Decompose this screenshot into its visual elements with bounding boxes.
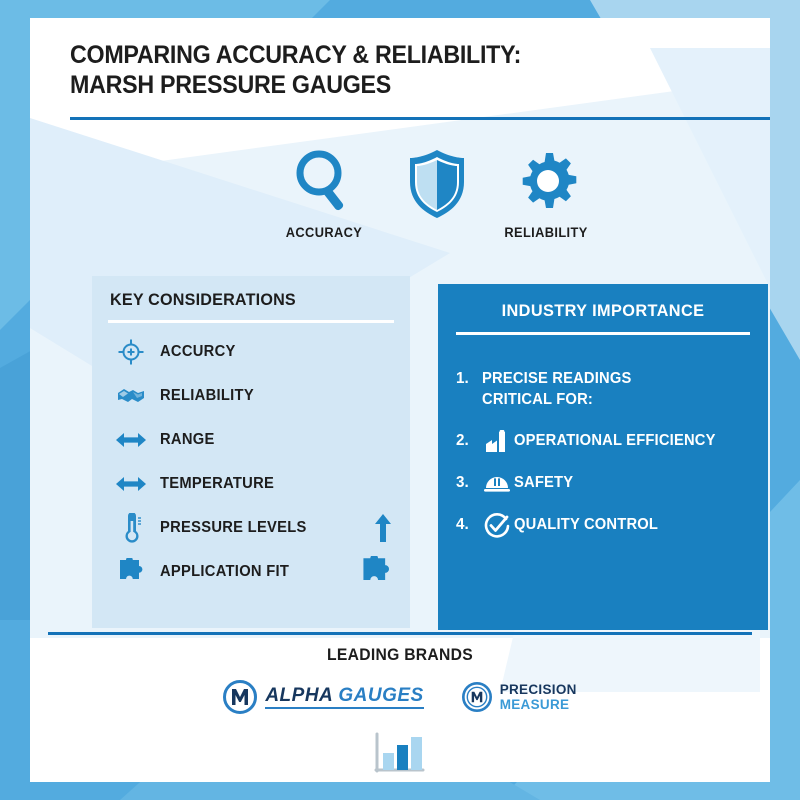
infographic-canvas: COMPARING ACCURACY & RELIABILITY: MARSH … [0,0,800,800]
m-circle-icon [223,680,257,714]
footer-title: LEADING BRANDS [49,646,752,665]
list-item-label: SAFETY [514,472,573,493]
list-item[interactable]: TEMPERATURE [114,462,400,506]
gear-icon [514,148,578,214]
key-considerations-title: KEY CONSIDERATIONS [110,290,296,310]
magnifier-icon [292,148,356,214]
footer-divider [48,632,752,635]
brand-logos: ALPHA GAUGES PRECISION MEASURE [30,680,770,714]
top-icon-label: ACCURACY [263,225,385,240]
list-item[interactable]: RANGE [114,418,400,462]
brand-precision-measure[interactable]: PRECISION MEASURE [462,682,577,712]
list-item-label: OPERATIONAL EFFICIENCY [514,430,716,451]
hardhat-icon [480,472,514,496]
industry-importance-panel: INDUSTRY IMPORTANCE 1. PRECISE READINGS … [438,284,768,630]
up-arrow-icon [374,513,392,543]
list-item[interactable]: RELIABILITY [114,374,400,418]
shield-icon [406,148,468,220]
handshake-icon [114,385,148,407]
list-item[interactable]: 4. QUALITY CONTROL [456,514,756,538]
list-item-label: APPLICATION FIT [160,563,289,581]
brand-name-part1: PRECISION [500,683,577,697]
industry-importance-title: INDUSTRY IMPORTANCE [445,301,762,321]
brand-name-part2: MEASURE [500,698,577,712]
page-title: COMPARING ACCURACY & RELIABILITY: MARSH … [70,40,689,100]
list-item[interactable]: 1. PRECISE READINGS CRITICAL FOR: [456,368,756,410]
content-card: COMPARING ACCURACY & RELIABILITY: MARSH … [30,18,770,782]
top-icon-row: ACCURACY RELIABILITY [260,148,610,258]
double-arrow-icon [114,431,148,449]
puzzle-icon [360,556,392,588]
key-considerations-list: ACCURCY RELIABILITY [114,330,400,594]
puzzle-icon [114,558,148,586]
list-item-label: RELIABILITY [160,387,254,405]
industry-importance-list: 1. PRECISE READINGS CRITICAL FOR: 2. OPE… [456,346,756,538]
brand-name-part1: ALPHA [265,685,332,706]
thermometer-icon [114,513,148,543]
list-item-label: TEMPERATURE [160,475,274,493]
list-item-label: QUALITY CONTROL [514,514,658,535]
list-item-number: 3. [456,472,479,494]
top-icon-accuracy: ACCURACY [260,148,388,240]
list-item-label: PRESSURE LEVELS [160,519,307,537]
list-item[interactable]: APPLICATION FIT [114,550,400,594]
top-icon-reliability: RELIABILITY [482,148,610,240]
bar-chart-icon [371,732,429,778]
list-item-number: 1. [456,368,479,390]
list-item-label: PRECISE READINGS CRITICAL FOR: [482,368,632,410]
list-item[interactable]: 2. OPERATIONAL EFFICIENCY [456,430,756,454]
top-icon-label: RELIABILITY [485,225,607,240]
key-considerations-panel: KEY CONSIDERATIONS [92,276,410,628]
factory-icon [480,430,514,454]
list-item-number: 4. [456,514,479,536]
panel-divider [108,320,394,323]
list-item-label: ACCURCY [160,343,236,361]
check-circle-icon [480,514,514,538]
list-item[interactable]: PRESSURE LEVELS [114,506,400,550]
double-arrow-icon [114,475,148,493]
list-item[interactable]: 3. SAFETY [456,472,756,496]
list-item-label: RANGE [160,431,215,449]
header-divider [70,117,770,120]
brand-name-part2: GAUGES [338,685,423,706]
header: COMPARING ACCURACY & RELIABILITY: MARSH … [70,40,736,100]
list-item[interactable]: ACCURCY [114,330,400,374]
m-circle-icon [462,682,492,712]
list-item-number: 2. [456,430,479,452]
brand-alpha-gauges[interactable]: ALPHA GAUGES [223,680,423,714]
footer-chart [30,732,770,778]
panel-divider [456,332,750,335]
crosshair-icon [114,339,148,365]
brand-underline [265,707,423,709]
top-icon-shield [378,148,496,231]
